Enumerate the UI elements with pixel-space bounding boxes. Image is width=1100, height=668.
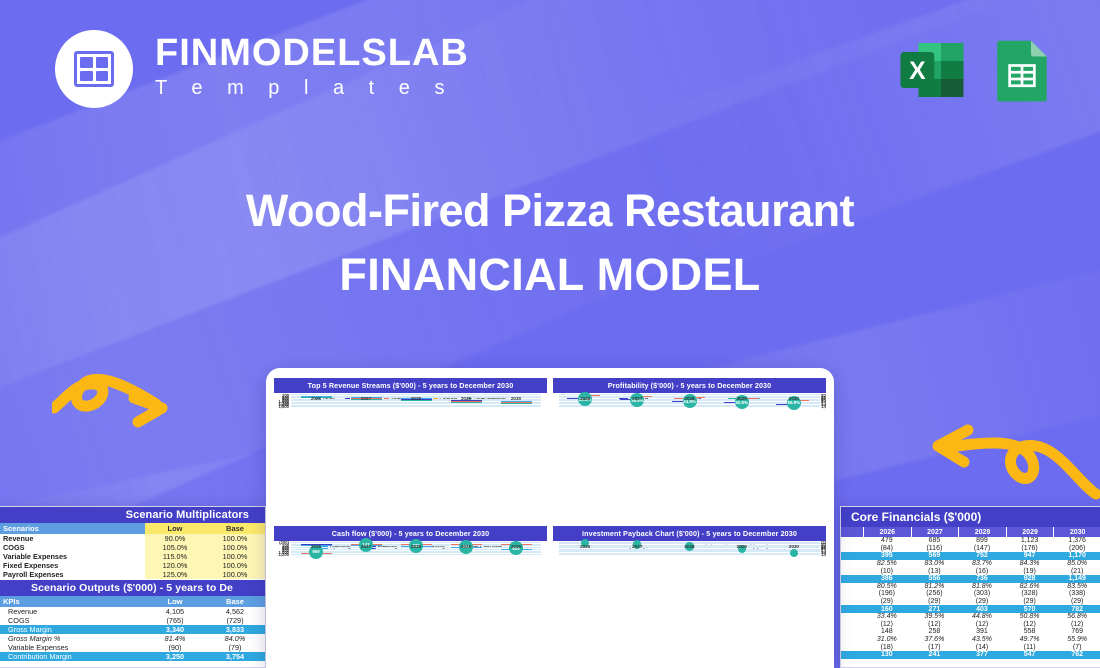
table-cell: 55.9% [1053,636,1100,644]
table-cell: 377 [958,651,1006,659]
x-axis-label: 2026 [559,544,611,549]
table-cell: (176) [1006,545,1054,553]
table-row: Revenue90.0%100.0% [0,534,265,543]
x-axis-label: 2029 [716,396,768,401]
table-row: (12)(12)(12)(12)(12) [841,621,1100,629]
cell-low: 120.0% [145,561,205,570]
cell-low: 90.0% [145,534,205,543]
table-cell: 83.0% [911,560,959,568]
brand-name: FINMODELSLAB [155,35,469,72]
cell-base: 100.0% [205,534,265,543]
x-axis-label: 2029 [716,544,768,549]
spacer-cell [841,598,863,606]
table-cell: 50.8% [1006,613,1054,621]
row-label: Gross Margin [0,625,145,634]
table-cell: (84) [863,545,911,553]
table-cell: (338) [1053,590,1100,598]
table-cell: (11) [1006,643,1054,651]
scenario-table-header: Scenarios Low Base [0,523,265,534]
spacer-cell [841,583,863,591]
cell-base: 100.0% [205,543,265,552]
table-cell: (303) [958,590,1006,598]
curvy-arrow-right-icon [52,360,182,435]
gridline [559,554,820,555]
row-label: Payroll Expenses [0,570,145,579]
row-label: Gross Margin % [0,634,145,643]
svg-text:X: X [909,58,926,85]
table-cell: 762 [1053,651,1100,659]
table-cell: (14) [958,643,1006,651]
table-cell: 241 [911,651,959,659]
table-cell: 547 [1006,651,1054,659]
cell-low: 81.4% [145,634,205,643]
header-year: 2028 [958,527,1006,537]
panel-title-profitability: Profitability ($'000) - 5 years to Decem… [553,378,826,393]
spacer-cell [841,552,863,560]
panel-title-revenue-streams: Top 5 Revenue Streams ($'000) - 5 years … [274,378,547,393]
cell-base: (79) [205,643,265,652]
table-cell: (29) [863,598,911,606]
x-axis-label: 2030 [491,544,541,549]
panel-title-investment-payback: Investment Payback Chart ($'000) - 5 yea… [553,526,826,541]
table-cell: 928 [1006,575,1054,583]
table-cell: 570 [1006,605,1054,613]
table-cell: 558 [1006,628,1054,636]
logo-circle [55,30,133,108]
table-cell: 782 [1053,605,1100,613]
panel-title-cash-flow: Cash flow ($'000) - 5 years to December … [274,526,547,541]
table-cell: (29) [911,598,959,606]
table-cell: (196) [863,590,911,598]
table-cell: 81.8% [958,583,1006,591]
row-label: Contribution Margin [0,652,145,661]
table-cell: (16) [958,567,1006,575]
table-cell: 569 [911,552,959,560]
panel-investment-payback: Investment Payback Chart ($'000) - 5 yea… [553,526,826,668]
spacer-cell [841,605,863,613]
core-financials-header: 20262027202820292030 [841,527,1100,537]
x-axis-label: 2026 [559,396,611,401]
table-cell: 44.8% [958,613,1006,621]
spacer-cell [841,567,863,575]
table-cell: 37.6% [911,636,959,644]
table-row: Variable Expenses115.0%100.0% [0,552,265,561]
scenario-outputs-header: KPIs Low Base [0,596,265,607]
row-label: Revenue [0,534,145,543]
table-row: COGS105.0%100.0% [0,543,265,552]
table-cell: 391 [958,628,1006,636]
table-cell: 56.8% [1053,613,1100,621]
table-cell: (12) [863,621,911,629]
table-cell: (29) [1053,598,1100,606]
y-axis-label: 1,600 [821,404,826,409]
brand-subtitle: T e m p l a t e s [155,73,469,103]
row-label: COGS [0,543,145,552]
table-row: (18)(17)(14)(11)(7) [841,643,1100,651]
table-row: (29)(29)(29)(29)(29) [841,598,1100,606]
table-cell: 479 [863,537,911,545]
cell-base: (729) [205,616,265,625]
x-axis-label: 2027 [341,396,391,401]
x-axis-label: 2028 [391,396,441,401]
table-cell: 395 [863,552,911,560]
table-row: 31.0%37.6%43.5%49.7%55.9% [841,636,1100,644]
table-row: (84)(116)(147)(176)(206) [841,545,1100,553]
table-cell: (12) [1053,621,1100,629]
scenario-outputs-title: Scenario Outputs ($'000) - 5 years to De [0,580,265,596]
data-point-label [790,549,798,557]
x-axis-label: 2028 [663,544,715,549]
table-row: 4796858991,1231,376 [841,537,1100,545]
table-row: 80.5%81.2%81.8%82.6%83.5% [841,583,1100,591]
scenario-multiplicators-table: Scenario Multiplicators Scenarios Low Ba… [0,506,266,668]
table-cell: 386 [863,575,911,583]
table-cell: 556 [911,575,959,583]
table-cell: (147) [958,545,1006,553]
table-cell: 82.5% [863,560,911,568]
cell-base: 100.0% [205,552,265,561]
row-label: Revenue [0,607,145,616]
table-cell: 49.7% [1006,636,1054,644]
table-cell: 130 [863,651,911,659]
table-row: 3865567369281,149 [841,575,1100,583]
app-icons: X [896,34,1058,106]
table-cell: 752 [958,552,1006,560]
spacer-cell [841,628,863,636]
table-cell: 1,149 [1053,575,1100,583]
core-financials-table: Core Financials ($'000) 2026202720282029… [840,506,1100,668]
table-cell: 160 [863,605,911,613]
header-scenarios: Scenarios [0,523,145,534]
row-label: Fixed Expenses [0,561,145,570]
table-cell: 403 [958,605,1006,613]
x-axis-label: 2029 [441,396,491,401]
table-row: 160271403570782 [841,605,1100,613]
x-axis-label: 2026 [291,544,341,549]
spacer-cell [841,621,863,629]
table-cell: 736 [958,575,1006,583]
header-kpis: KPIs [0,596,145,607]
scenario-output-rows: Revenue4,1054,562COGS(765)(729)Gross Mar… [0,607,265,661]
table-cell: (29) [1006,598,1054,606]
cell-base: 100.0% [205,561,265,570]
spacer-cell [841,636,863,644]
table-row: (196)(256)(303)(328)(338) [841,590,1100,598]
core-financials-rows: 4796858991,1231,376(84)(116)(147)(176)(2… [841,537,1100,659]
core-financials-title: Core Financials ($'000) [841,507,1100,527]
panel-cash-flow: Cash flow ($'000) - 5 years to December … [274,526,547,668]
grid-squares-icon [74,51,114,87]
table-cell: 39.5% [911,613,959,621]
cell-low: 3,250 [145,652,205,661]
x-axis-label: 2027 [341,544,391,549]
table-cell: (256) [911,590,959,598]
x-axis-label: 2030 [491,396,541,401]
bar-segment [501,403,532,404]
cell-base: 84.0% [205,634,265,643]
x-axis-label: 2029 [441,544,491,549]
spacer-cell [841,545,863,553]
table-cell: 43.5% [958,636,1006,644]
gridline [291,554,541,555]
table-row: Gross Margin3,3403,833 [0,625,265,634]
table-cell: 83.7% [958,560,1006,568]
curvy-arrow-left-icon [920,398,1100,500]
table-cell: (7) [1053,643,1100,651]
table-cell: (10) [863,567,911,575]
table-cell: (12) [958,621,1006,629]
header-low: Low [145,523,205,534]
cell-base: 3,833 [205,625,265,634]
row-label: Variable Expenses [0,552,145,561]
scenario-multiplicators-title: Scenario Multiplicators [0,507,265,523]
header: FINMODELSLAB T e m p l a t e s X [0,0,1100,150]
scenario-rows: Revenue90.0%100.0%COGS105.0%100.0%Variab… [0,534,265,579]
cell-base: 4,562 [205,607,265,616]
table-cell: 83.5% [1053,583,1100,591]
cell-low: 115.0% [145,552,205,561]
header-base: Base [205,596,265,607]
x-axis-label: 2027 [611,396,663,401]
table-row: 148258391558769 [841,628,1100,636]
title-line-1: Wood-Fired Pizza Restaurant [0,186,1100,236]
table-cell: (29) [958,598,1006,606]
table-row: Revenue4,1054,562 [0,607,265,616]
spacer-cell [841,575,863,583]
table-cell: 33.4% [863,613,911,621]
table-row: Gross Margin %81.4%84.0% [0,634,265,643]
google-sheets-icon [986,34,1058,106]
table-cell: 82.6% [1006,583,1054,591]
table-cell: 1,170 [1053,552,1100,560]
header-year: 2030 [1053,527,1100,537]
table-cell: 1,123 [1006,537,1054,545]
table-cell: (206) [1053,545,1100,553]
header-low: Low [145,596,205,607]
excel-icon: X [896,34,968,106]
table-cell: (13) [911,567,959,575]
table-cell: 271 [911,605,959,613]
spacer-cell [841,651,863,659]
cell-low: 105.0% [145,543,205,552]
x-axis-label: 2030 [768,396,820,401]
table-cell: 31.0% [863,636,911,644]
spacer-cell [841,613,863,621]
table-cell: 80.5% [863,583,911,591]
table-cell: 81.2% [911,583,959,591]
table-row: 130241377547762 [841,651,1100,659]
table-cell: (21) [1053,567,1100,575]
x-axis-label: 2028 [391,544,441,549]
table-cell: (328) [1006,590,1054,598]
table-cell: 769 [1053,628,1100,636]
table-cell: 85.0% [1053,560,1100,568]
table-cell: (19) [1006,567,1054,575]
spacer-cell [841,527,863,537]
table-row: 82.5%83.0%83.7%84.3%85.0% [841,560,1100,568]
table-row: Payroll Expenses125.0%100.0% [0,570,265,579]
cell-base: 3,754 [205,652,265,661]
y-axis-label: 1,200 [274,552,289,557]
cell-low: 4,105 [145,607,205,616]
spacer-cell [841,643,863,651]
gridline [291,406,541,407]
cell-low: 125.0% [145,570,205,579]
table-cell: (116) [911,545,959,553]
header-year: 2027 [911,527,959,537]
row-label: COGS [0,616,145,625]
cell-low: (90) [145,643,205,652]
cell-base: 100.0% [205,570,265,579]
table-cell: (18) [863,643,911,651]
title-line-2: FINANCIAL MODEL [0,246,1100,305]
table-row: 33.4%39.5%44.8%50.8%56.8% [841,613,1100,621]
x-axis-label: 2026 [291,396,341,401]
table-row: Fixed Expenses120.0%100.0% [0,561,265,570]
table-row: (10)(13)(16)(19)(21) [841,567,1100,575]
x-axis-label: 2030 [768,544,820,549]
table-cell: (17) [911,643,959,651]
header-year: 2026 [863,527,911,537]
cell-low: (765) [145,616,205,625]
panel-profitability: Profitability ($'000) - 5 years to Decem… [553,378,826,520]
header-year: 2029 [1006,527,1054,537]
table-cell: 148 [863,628,911,636]
y-axis-label: 1,600 [274,404,289,409]
row-label: Variable Expenses [0,643,145,652]
table-cell: 899 [958,537,1006,545]
table-row: Contribution Margin3,2503,754 [0,652,265,661]
dashboard-card: Top 5 Revenue Streams ($'000) - 5 years … [266,368,834,668]
x-axis-label: 2028 [663,396,715,401]
table-cell: (12) [911,621,959,629]
table-cell: 947 [1006,552,1054,560]
bar-segment [451,402,482,403]
spacer-cell [841,537,863,545]
header-base: Base [205,523,265,534]
table-row: Variable Expenses(90)(79) [0,643,265,652]
panel-revenue-streams: Top 5 Revenue Streams ($'000) - 5 years … [274,378,547,520]
y-axis-label: 1,600 [821,552,826,557]
cell-low: 3,340 [145,625,205,634]
table-cell: 84.3% [1006,560,1054,568]
table-cell: 1,376 [1053,537,1100,545]
table-row: 3955697529471,170 [841,552,1100,560]
brand-logo: FINMODELSLAB T e m p l a t e s [55,30,469,108]
table-cell: 685 [911,537,959,545]
x-axis-label: 2027 [611,544,663,549]
table-row: COGS(765)(729) [0,616,265,625]
table-cell: 258 [911,628,959,636]
table-cell: (12) [1006,621,1054,629]
spacer-cell [841,560,863,568]
spacer-cell [841,590,863,598]
page-title: Wood-Fired Pizza Restaurant FINANCIAL MO… [0,186,1100,305]
